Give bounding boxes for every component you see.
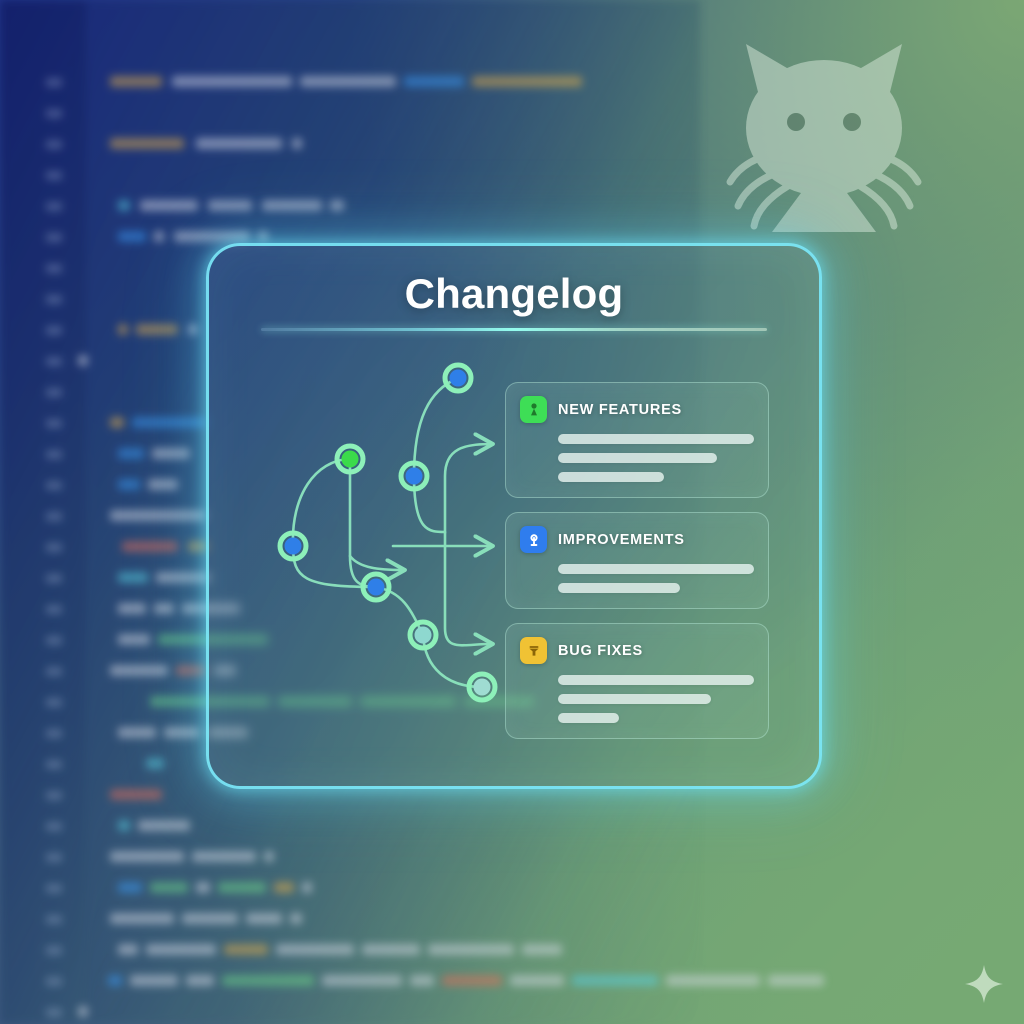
changelog-graphic: Changelog [0, 0, 1024, 1024]
content-bar [558, 564, 754, 574]
bug-icon [520, 637, 547, 664]
content-bar [558, 713, 619, 723]
changelog-card-list: NEW FEATURES IMPROVEM [505, 382, 769, 753]
card-header: NEW FEATURES [520, 396, 754, 423]
title-divider [261, 328, 767, 331]
commit-node-blue [450, 370, 467, 387]
card-header: IMPROVEMENTS [520, 526, 754, 553]
content-bar [558, 583, 680, 593]
changelog-card-bug-fixes[interactable]: BUG FIXES [505, 623, 769, 739]
card-content-bars [520, 564, 754, 593]
content-bar [558, 675, 754, 685]
card-header: BUG FIXES [520, 637, 754, 664]
commit-node-blue [285, 538, 302, 555]
changelog-card-new-features[interactable]: NEW FEATURES [505, 382, 769, 498]
commit-node-teal [415, 627, 432, 644]
commit-node-green [342, 451, 359, 468]
feature-plus-icon [520, 396, 547, 423]
content-bar [558, 434, 754, 444]
card-title: BUG FIXES [558, 643, 643, 659]
sparkle-icon [962, 962, 1006, 1006]
changelog-panel: Changelog [206, 243, 822, 789]
card-title: NEW FEATURES [558, 402, 682, 418]
wrench-tool-icon [520, 526, 547, 553]
git-branch-graph [233, 356, 523, 736]
content-bar [558, 472, 664, 482]
page-title: Changelog [209, 270, 819, 318]
line-number-gutter [0, 0, 86, 1024]
content-bar [558, 694, 711, 704]
commit-node-teal [474, 679, 491, 696]
commit-node-blue [368, 579, 385, 596]
card-content-bars [520, 434, 754, 482]
changelog-card-improvements[interactable]: IMPROVEMENTS [505, 512, 769, 609]
card-title: IMPROVEMENTS [558, 532, 685, 548]
cat-mascot-logo [700, 36, 948, 244]
card-content-bars [520, 675, 754, 723]
content-bar [558, 453, 717, 463]
graph-node-group [280, 365, 495, 700]
commit-node-blue [406, 468, 423, 485]
